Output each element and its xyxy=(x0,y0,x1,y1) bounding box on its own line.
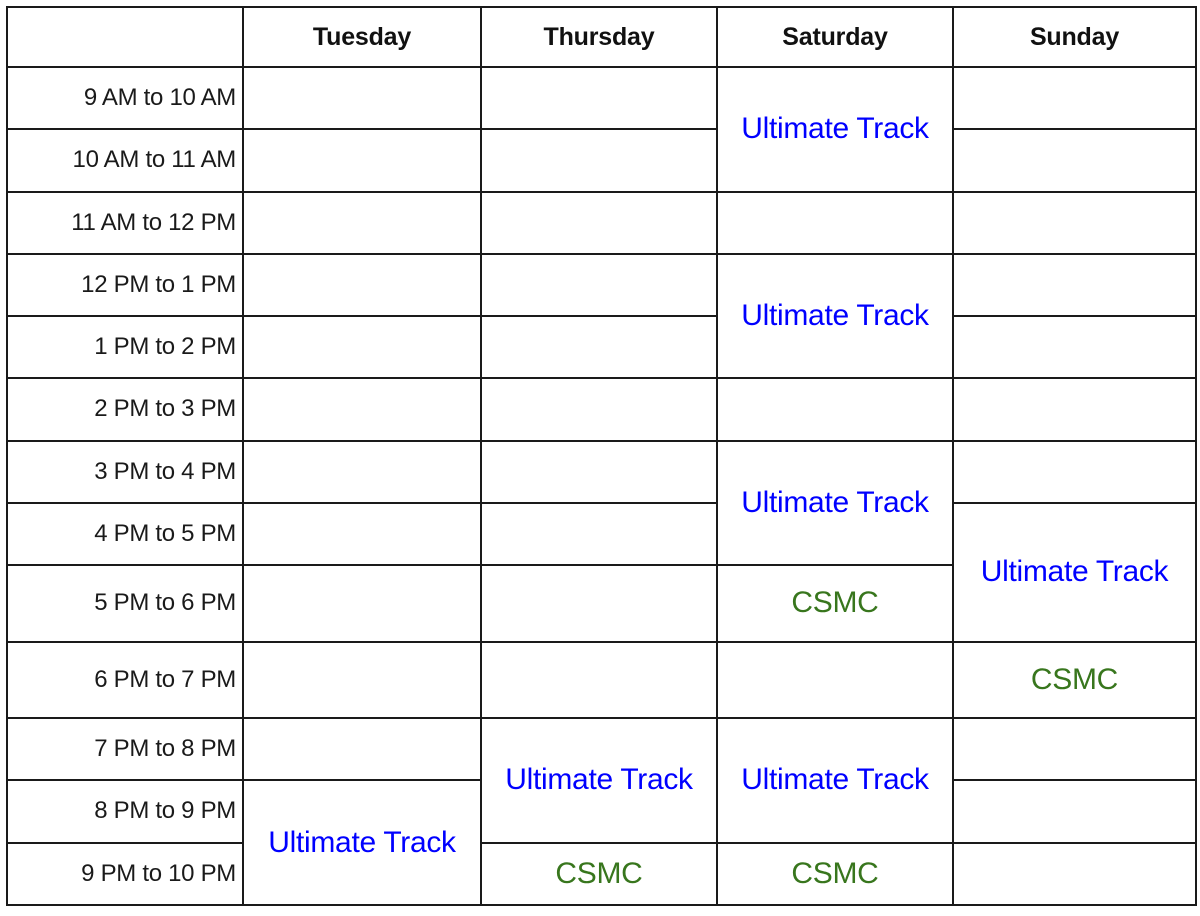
schedule-row: 6 PM to 7 PMCSMC xyxy=(7,642,1196,719)
schedule-cell-thursday-empty[interactable] xyxy=(481,316,717,378)
schedule-cell-tuesday-empty[interactable] xyxy=(243,192,481,254)
schedule-cell-sunday-empty[interactable] xyxy=(953,316,1196,378)
schedule-cell-sunday-empty[interactable] xyxy=(953,378,1196,440)
schedule-row: 10 AM to 11 AM xyxy=(7,129,1196,191)
schedule-cell-tuesday-empty[interactable] xyxy=(243,642,481,719)
event-label: Ultimate Track xyxy=(724,300,946,332)
schedule-cell-sunday-csmc[interactable]: CSMC xyxy=(953,642,1196,719)
schedule-cell-thursday-ultimate_track[interactable]: Ultimate Track xyxy=(481,718,717,843)
schedule-cell-tuesday-empty[interactable] xyxy=(243,67,481,129)
schedule-cell-tuesday-empty[interactable] xyxy=(243,316,481,378)
schedule-cell-thursday-empty[interactable] xyxy=(481,441,717,503)
schedule-cell-tuesday-empty[interactable] xyxy=(243,378,481,440)
weekly-schedule-table: Tuesday Thursday Saturday Sunday 9 AM to… xyxy=(6,6,1197,906)
schedule-cell-sunday-empty[interactable] xyxy=(953,67,1196,129)
schedule-row: 3 PM to 4 PMUltimate Track xyxy=(7,441,1196,503)
event-label: CSMC xyxy=(724,858,946,890)
schedule-cell-sunday-empty[interactable] xyxy=(953,843,1196,905)
schedule-header: Tuesday Thursday Saturday Sunday xyxy=(7,7,1196,67)
schedule-cell-tuesday-empty[interactable] xyxy=(243,503,481,565)
schedule-cell-tuesday-empty[interactable] xyxy=(243,129,481,191)
event-label: CSMC xyxy=(488,858,710,890)
event-label: Ultimate Track xyxy=(724,764,946,796)
event-label: Ultimate Track xyxy=(488,764,710,796)
column-header-sunday: Sunday xyxy=(953,7,1196,67)
schedule-cell-thursday-empty[interactable] xyxy=(481,642,717,719)
event-label: CSMC xyxy=(960,664,1189,696)
schedule-cell-thursday-empty[interactable] xyxy=(481,129,717,191)
schedule-row: 9 PM to 10 PMCSMCCSMC xyxy=(7,843,1196,905)
schedule-cell-saturday-ultimate_track[interactable]: Ultimate Track xyxy=(717,67,953,192)
schedule-cell-tuesday-ultimate_track[interactable]: Ultimate Track xyxy=(243,780,481,905)
schedule-container: Tuesday Thursday Saturday Sunday 9 AM to… xyxy=(0,0,1200,916)
event-label: CSMC xyxy=(724,587,946,619)
time-slot-label: 9 AM to 10 AM xyxy=(7,67,243,129)
header-corner-cell xyxy=(7,7,243,67)
schedule-cell-saturday-csmc[interactable]: CSMC xyxy=(717,565,953,642)
time-slot-label: 6 PM to 7 PM xyxy=(7,642,243,719)
schedule-cell-thursday-empty[interactable] xyxy=(481,192,717,254)
schedule-cell-sunday-ultimate_track[interactable]: Ultimate Track xyxy=(953,503,1196,642)
event-label: Ultimate Track xyxy=(960,556,1189,588)
column-header-saturday: Saturday xyxy=(717,7,953,67)
time-slot-label: 4 PM to 5 PM xyxy=(7,503,243,565)
column-header-tuesday: Tuesday xyxy=(243,7,481,67)
schedule-row: 11 AM to 12 PM xyxy=(7,192,1196,254)
schedule-cell-saturday-csmc[interactable]: CSMC xyxy=(717,843,953,905)
schedule-cell-tuesday-empty[interactable] xyxy=(243,565,481,642)
schedule-row: 4 PM to 5 PMUltimate Track xyxy=(7,503,1196,565)
schedule-cell-saturday-ultimate_track[interactable]: Ultimate Track xyxy=(717,718,953,843)
schedule-cell-thursday-csmc[interactable]: CSMC xyxy=(481,843,717,905)
schedule-cell-thursday-empty[interactable] xyxy=(481,378,717,440)
schedule-cell-sunday-empty[interactable] xyxy=(953,192,1196,254)
schedule-cell-tuesday-empty[interactable] xyxy=(243,441,481,503)
event-label: Ultimate Track xyxy=(250,827,474,859)
schedule-cell-saturday-empty[interactable] xyxy=(717,642,953,719)
time-slot-label: 8 PM to 9 PM xyxy=(7,780,243,842)
time-slot-label: 3 PM to 4 PM xyxy=(7,441,243,503)
schedule-cell-thursday-empty[interactable] xyxy=(481,565,717,642)
schedule-row: 7 PM to 8 PMUltimate TrackUltimate Track xyxy=(7,718,1196,780)
schedule-row: 1 PM to 2 PM xyxy=(7,316,1196,378)
schedule-cell-thursday-empty[interactable] xyxy=(481,67,717,129)
header-row: Tuesday Thursday Saturday Sunday xyxy=(7,7,1196,67)
schedule-cell-tuesday-empty[interactable] xyxy=(243,254,481,316)
time-slot-label: 9 PM to 10 PM xyxy=(7,843,243,905)
schedule-cell-sunday-empty[interactable] xyxy=(953,718,1196,780)
event-label: Ultimate Track xyxy=(724,487,946,519)
time-slot-label: 1 PM to 2 PM xyxy=(7,316,243,378)
time-slot-label: 10 AM to 11 AM xyxy=(7,129,243,191)
schedule-row: 12 PM to 1 PMUltimate Track xyxy=(7,254,1196,316)
schedule-cell-tuesday-empty[interactable] xyxy=(243,718,481,780)
time-slot-label: 11 AM to 12 PM xyxy=(7,192,243,254)
time-slot-label: 2 PM to 3 PM xyxy=(7,378,243,440)
schedule-cell-thursday-empty[interactable] xyxy=(481,503,717,565)
event-label: Ultimate Track xyxy=(724,113,946,145)
schedule-cell-saturday-ultimate_track[interactable]: Ultimate Track xyxy=(717,254,953,379)
schedule-cell-sunday-empty[interactable] xyxy=(953,441,1196,503)
schedule-cell-saturday-empty[interactable] xyxy=(717,192,953,254)
column-header-thursday: Thursday xyxy=(481,7,717,67)
schedule-cell-saturday-empty[interactable] xyxy=(717,378,953,440)
schedule-cell-thursday-empty[interactable] xyxy=(481,254,717,316)
time-slot-label: 7 PM to 8 PM xyxy=(7,718,243,780)
schedule-cell-saturday-ultimate_track[interactable]: Ultimate Track xyxy=(717,441,953,566)
schedule-row: 2 PM to 3 PM xyxy=(7,378,1196,440)
schedule-cell-sunday-empty[interactable] xyxy=(953,254,1196,316)
schedule-row: 9 AM to 10 AMUltimate Track xyxy=(7,67,1196,129)
time-slot-label: 5 PM to 6 PM xyxy=(7,565,243,642)
schedule-body: 9 AM to 10 AMUltimate Track10 AM to 11 A… xyxy=(7,67,1196,905)
schedule-cell-sunday-empty[interactable] xyxy=(953,129,1196,191)
time-slot-label: 12 PM to 1 PM xyxy=(7,254,243,316)
schedule-cell-sunday-empty[interactable] xyxy=(953,780,1196,842)
